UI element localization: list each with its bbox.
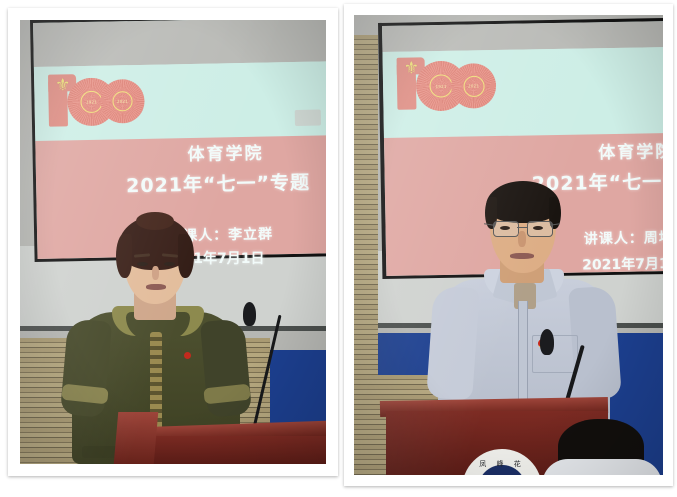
hair-side-right bbox=[178, 234, 194, 278]
microphone-head-right bbox=[540, 329, 554, 355]
photo-collage: ⚜ 1921 2021 体育学院 2021年“七一”专题 讲课人：李立群 202 bbox=[0, 0, 677, 497]
slide-line-institute-left: 体育学院 bbox=[187, 139, 263, 165]
logo-zero-second: 2021 bbox=[100, 79, 145, 124]
photo-right: ⚜ 1921 2021 体育学院 2021年“七一”专 讲课人：周坤 2021年… bbox=[344, 4, 673, 486]
glasses-bridge bbox=[517, 227, 527, 228]
mouth bbox=[510, 253, 534, 259]
nose bbox=[518, 231, 526, 247]
photo-right-image: ⚜ 1921 2021 体育学院 2021年“七一”专 讲课人：周坤 2021年… bbox=[354, 15, 663, 475]
screen-top-wall-band-left bbox=[33, 20, 326, 67]
hair-bun bbox=[136, 212, 174, 230]
projector-device-left bbox=[295, 109, 321, 125]
party-pin bbox=[184, 352, 191, 359]
nose bbox=[152, 266, 159, 280]
logo-zero-second: 2021 bbox=[451, 63, 497, 109]
shirt-sleeve-left bbox=[426, 286, 480, 401]
microphone-head-left bbox=[243, 302, 256, 326]
eye-right bbox=[164, 262, 175, 266]
cpc-100-logo-right: ⚜ 1921 2021 bbox=[397, 56, 498, 118]
photo-left: ⚜ 1921 2021 体育学院 2021年“七一”专题 讲课人：李立群 202 bbox=[8, 8, 338, 476]
cpc-100-logo-left: ⚜ 1921 2021 bbox=[48, 73, 149, 131]
podium-side-left bbox=[114, 412, 159, 464]
audience-shoulders bbox=[542, 459, 662, 475]
hair-side-left bbox=[116, 234, 132, 278]
mouth bbox=[146, 284, 166, 290]
eye-left bbox=[500, 226, 510, 230]
eye-left bbox=[137, 262, 148, 266]
eye-right bbox=[533, 226, 543, 230]
slide-line-institute-right: 体育学院 bbox=[598, 137, 663, 163]
podium-left bbox=[138, 436, 326, 464]
photo-left-image: ⚜ 1921 2021 体育学院 2021年“七一”专题 讲课人：李立群 202 bbox=[20, 20, 326, 464]
slide-line-title-left: 2021年“七一”专题 bbox=[126, 168, 310, 199]
